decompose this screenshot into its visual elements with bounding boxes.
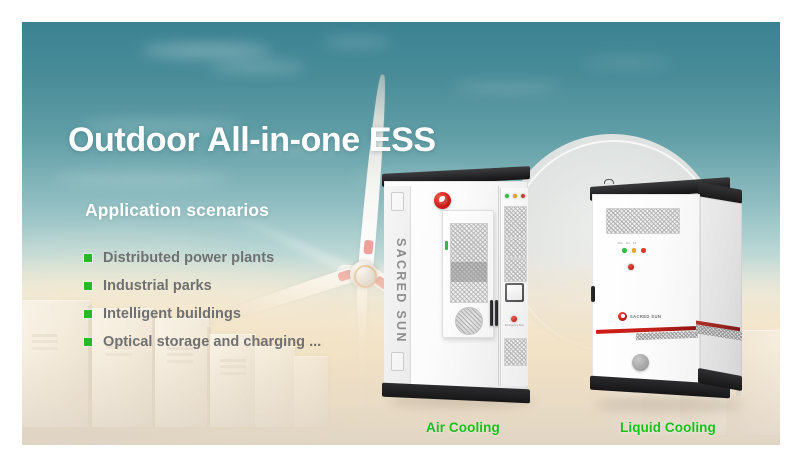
cloud-icon xyxy=(322,38,392,46)
caption-liquid-cooling: Liquid Cooling xyxy=(620,420,716,435)
door-seam xyxy=(498,186,499,386)
list-item: Industrial parks xyxy=(84,272,321,300)
cloud-icon xyxy=(52,172,232,186)
door-handle[interactable] xyxy=(591,286,595,302)
application-scenario-list: Distributed power plantsIndustrial parks… xyxy=(84,244,321,356)
door-handle[interactable] xyxy=(495,300,498,326)
cloud-icon xyxy=(582,58,672,67)
status-led-run xyxy=(622,248,627,253)
access-port-knob[interactable] xyxy=(632,354,649,371)
sacred-sun-logo-icon xyxy=(434,192,451,209)
vent-grille-icon xyxy=(504,238,527,258)
air-conditioner-module xyxy=(442,210,494,338)
section-subheading: Application scenarios xyxy=(85,200,269,221)
status-led-run xyxy=(505,194,509,198)
bullet-square-icon xyxy=(84,282,92,290)
vent-grille-icon xyxy=(504,206,527,238)
brand-badge: SACRED SUN xyxy=(618,312,661,321)
emergency-stop-button[interactable] xyxy=(628,264,634,270)
status-led-fault xyxy=(641,248,646,253)
control-panel[interactable]: Emergency Stop xyxy=(500,188,528,386)
status-led-group xyxy=(622,248,646,253)
cabinet-latch[interactable] xyxy=(391,352,404,371)
ac-status-led xyxy=(445,241,448,250)
ac-fan-icon xyxy=(455,307,483,335)
page-title: Outdoor All-in-one ESS xyxy=(68,121,436,160)
air-cooling-cabinet[interactable]: SACRED SUN E xyxy=(380,170,530,402)
door-handle[interactable] xyxy=(490,300,493,326)
vent-grille-icon xyxy=(504,338,527,366)
list-item: Optical storage and charging ... xyxy=(84,328,321,356)
list-item-label: Distributed power plants xyxy=(103,250,274,266)
status-led-alarm xyxy=(513,194,517,198)
list-item-label: Intelligent buildings xyxy=(103,306,241,322)
cabinet-side-face xyxy=(700,196,742,381)
banner-canvas: SACRED SUN E xyxy=(0,0,800,469)
list-item-label: Optical storage and charging ... xyxy=(103,334,321,350)
status-led-group xyxy=(505,194,525,198)
brand-name-vertical: SACRED SUN xyxy=(394,238,408,348)
product-banner: SACRED SUN E xyxy=(22,22,780,445)
control-display-screen[interactable] xyxy=(505,283,524,302)
cabinet-latch[interactable] xyxy=(391,192,404,211)
status-led-fault xyxy=(521,194,525,198)
list-item-label: Industrial parks xyxy=(103,278,212,294)
list-item: Intelligent buildings xyxy=(84,300,321,328)
bullet-square-icon xyxy=(84,254,92,262)
vent-grille-icon xyxy=(504,258,527,282)
status-led-labels: RunAlmFlt xyxy=(618,242,636,245)
sacred-sun-logo-icon xyxy=(618,312,627,321)
brand-name: SACRED SUN xyxy=(630,314,661,319)
bullet-square-icon xyxy=(84,338,92,346)
cloud-icon xyxy=(142,44,272,57)
lifting-lug-icon xyxy=(604,179,614,184)
status-led-alarm xyxy=(632,248,637,253)
caption-air-cooling: Air Cooling xyxy=(426,420,500,435)
liquid-cooling-cabinet[interactable]: RunAlmFlt SACRED SUN xyxy=(590,182,742,404)
ac-grille-icon xyxy=(450,223,488,303)
emergency-stop-label: Emergency Stop xyxy=(503,324,526,327)
emergency-stop-button[interactable] xyxy=(511,316,517,322)
list-item: Distributed power plants xyxy=(84,244,321,272)
vent-grille-icon xyxy=(606,208,680,234)
bullet-square-icon xyxy=(84,310,92,318)
